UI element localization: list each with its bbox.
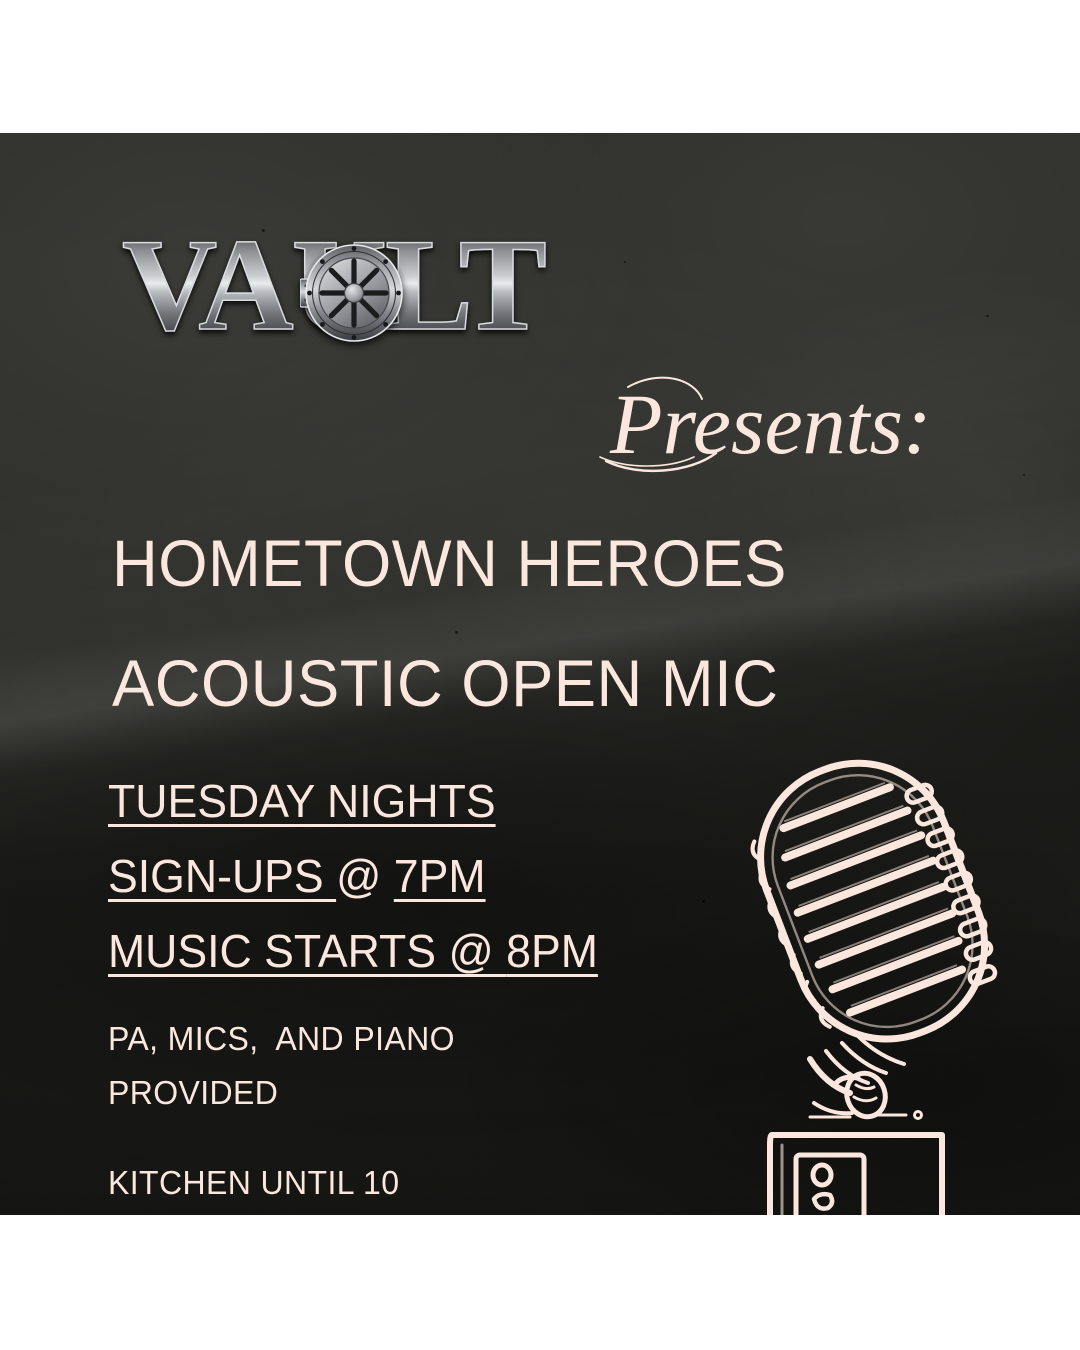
- schedule-line-3-part-a: MUSIC STARTS @: [108, 925, 506, 977]
- equipment-line-2: PROVIDED: [108, 1074, 278, 1112]
- headline-line-1: HOMETOWN HEROES: [112, 525, 787, 601]
- poster-canvas: VAULT: [0, 133, 1080, 1215]
- schedule-line-1-text: TUESDAY NIGHTS: [108, 775, 496, 827]
- schedule-line-3: MUSIC STARTS @ 8PM: [108, 924, 598, 978]
- vault-door-icon: [300, 241, 404, 345]
- vault-logo: VAULT: [122, 215, 562, 355]
- schedule-line-1: TUESDAY NIGHTS: [108, 774, 496, 828]
- schedule-line-2: SIGN-UPS @ 7PM: [108, 849, 486, 903]
- schedule-line-2-part-a: SIGN-UPS: [108, 850, 336, 902]
- presents-text: Presents:: [609, 376, 932, 472]
- schedule-line-3-part-b: 8PM: [506, 925, 598, 977]
- schedule-line-2-part-b: 7PM: [394, 850, 486, 902]
- schedule-line-2-gap: @: [336, 850, 394, 902]
- vintage-microphone-icon: [690, 683, 1050, 1215]
- headline-line-2: ACOUSTIC OPEN MIC: [112, 645, 778, 721]
- equipment-line-1: PA, MICS, AND PIANO: [108, 1020, 455, 1058]
- presents-script: Presents:: [598, 365, 938, 485]
- kitchen-hours: KITCHEN UNTIL 10: [108, 1164, 399, 1202]
